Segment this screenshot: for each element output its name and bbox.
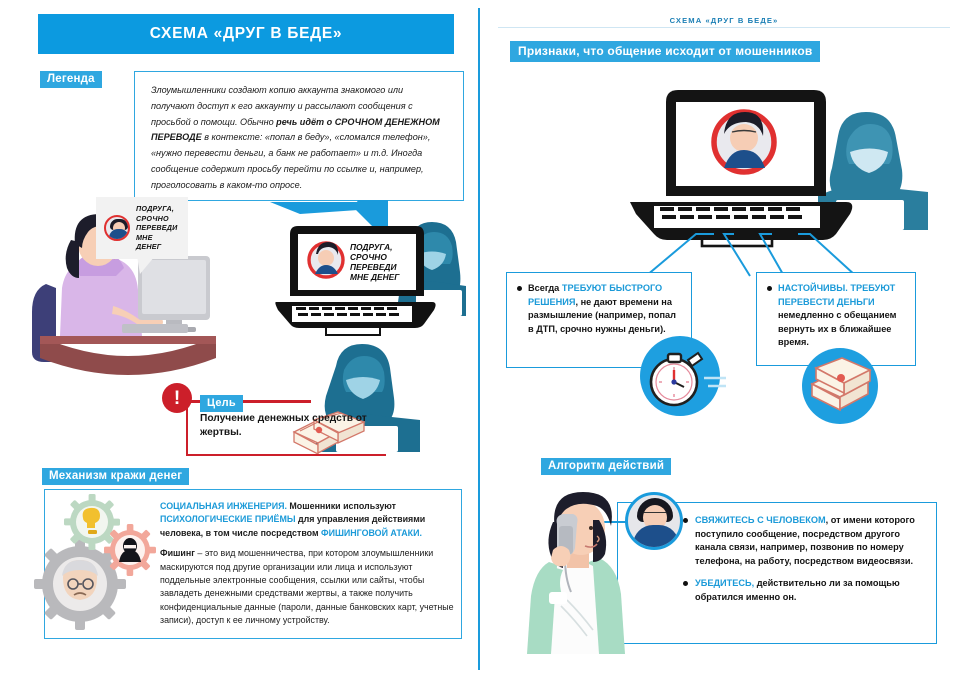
- header-rule: [498, 27, 950, 28]
- badge-goal: Цель: [200, 395, 243, 412]
- running-header: СХЕМА «ДРУГ В БЕДЕ»: [498, 10, 950, 28]
- algorithm-items: СВЯЖИТЕСЬ С ЧЕЛОВЕКОМ, от имени которого…: [683, 514, 931, 614]
- mechanism-paragraph-1: СОЦИАЛЬНАЯ ИНЖЕНЕРИЯ. Мошенники использу…: [160, 500, 454, 540]
- column-divider: [478, 8, 480, 670]
- bubble-tail-victim: [136, 250, 166, 276]
- algorithm-item-text: УБЕДИТЕСЬ, действительно ли за помощью о…: [695, 577, 931, 604]
- stopwatch-icon: [640, 336, 732, 418]
- badge-signs: Признаки, что общение исходит от мошенни…: [510, 41, 820, 62]
- callout-persistent-text: НАСТОЙЧИВЫ. ТРЕБУЮТ ПЕРЕВЕСТИ ДЕНЬГИ нем…: [778, 282, 905, 350]
- callout-fast-decision-text: Всегда ТРЕБУЮТ БЫСТРОГО РЕШЕНИЯ, не дают…: [528, 282, 681, 336]
- bullet-icon: [767, 286, 772, 291]
- avatar-friend-icon: [104, 215, 130, 241]
- algorithm-item-text: СВЯЖИТЕСЬ С ЧЕЛОВЕКОМ, от имени которого…: [695, 514, 931, 568]
- bullet-icon: [517, 286, 522, 291]
- goal-text: Получение денежных средств от жертвы.: [200, 412, 390, 440]
- badge-mechanism: Механизм кражи денег: [42, 468, 189, 485]
- mech-p2-rest: – это вид мошенничества, при котором зло…: [160, 548, 454, 625]
- algo-2-highlight: УБЕДИТЕСЬ,: [695, 578, 754, 588]
- callout-pointers: [600, 232, 930, 276]
- mech-hl-1: СОЦИАЛЬНАЯ ИНЖЕНЕРИЯ.: [160, 501, 287, 511]
- woman-on-phone-illustration: [527, 488, 657, 656]
- svg-text:СРОЧНО: СРОЧНО: [350, 252, 387, 262]
- callout-left-lead: Всегда: [528, 283, 562, 293]
- bubble-text-victim: ПОДРУГА, СРОЧНО ПЕРЕВЕДИ МНЕ ДЕНЕГ: [136, 204, 180, 252]
- mech-hl-2: ПСИХОЛОГИЧЕСКИЕ ПРИЁМЫ: [160, 514, 296, 524]
- callout-right-rest: немедленно с обещанием вернуть их в ближ…: [778, 310, 896, 347]
- mech-p2-bold: Фишинг: [160, 548, 195, 558]
- algo-1-highlight: СВЯЖИТЕСЬ С ЧЕЛОВЕКОМ: [695, 515, 826, 525]
- legend-paragraph: Злоумышленники создают копию аккаунта зн…: [151, 83, 449, 194]
- callout-right-highlight: НАСТОЙЧИВЫ. ТРЕБУЮТ ПЕРЕВЕСТИ ДЕНЬГИ: [778, 283, 895, 307]
- exclamation-glyph: !: [174, 389, 180, 408]
- legend-text-box: Злоумышленники создают копию аккаунта зн…: [134, 71, 464, 201]
- laptop-icon-main: [620, 86, 860, 254]
- laptop-icon-left: ПОДРУГА, СРОЧНО ПЕРЕВЕДИ МНЕ ДЕНЕГ: [268, 222, 440, 350]
- infographic-page: СХЕМА «ДРУГ В БЕДЕ» Легенда Злоумышленни…: [0, 0, 960, 678]
- badge-legend: Легенда: [40, 71, 102, 88]
- exclamation-icon: !: [162, 383, 192, 413]
- mechanism-paragraph-2: Фишинг – это вид мошенничества, при кото…: [160, 547, 454, 627]
- running-header-title: СХЕМА «ДРУГ В БЕДЕ»: [670, 16, 779, 25]
- main-header-bar: СХЕМА «ДРУГ В БЕДЕ»: [38, 14, 454, 54]
- mechanism-text: СОЦИАЛЬНАЯ ИНЖЕНЕРИЯ. Мошенники использу…: [160, 500, 454, 628]
- gears-illustration: [36, 492, 158, 622]
- badge-algorithm: Алгоритм действий: [541, 458, 671, 475]
- svg-text:ПОДРУГА,: ПОДРУГА,: [350, 242, 393, 252]
- bullet-icon: [683, 581, 688, 586]
- bubble-line-2: СРОЧНО: [136, 214, 180, 224]
- algorithm-item: УБЕДИТЕСЬ, действительно ли за помощью о…: [683, 577, 931, 604]
- svg-text:МНЕ ДЕНЕГ: МНЕ ДЕНЕГ: [350, 272, 400, 282]
- money-stack-icon-right: [794, 348, 884, 424]
- mech-hl-3: ФИШИНГОВОЙ АТАКИ.: [321, 528, 422, 538]
- bubble-line-1: ПОДРУГА,: [136, 204, 180, 214]
- bubble-line-3: ПЕРЕВЕДИ: [136, 223, 180, 233]
- mech-mid-1: Мошенники используют: [287, 501, 396, 511]
- page-title: СХЕМА «ДРУГ В БЕДЕ»: [150, 25, 343, 43]
- algorithm-item: СВЯЖИТЕСЬ С ЧЕЛОВЕКОМ, от имени которого…: [683, 514, 931, 568]
- svg-text:ПЕРЕВЕДИ: ПЕРЕВЕДИ: [350, 262, 397, 272]
- bullet-icon: [683, 518, 688, 523]
